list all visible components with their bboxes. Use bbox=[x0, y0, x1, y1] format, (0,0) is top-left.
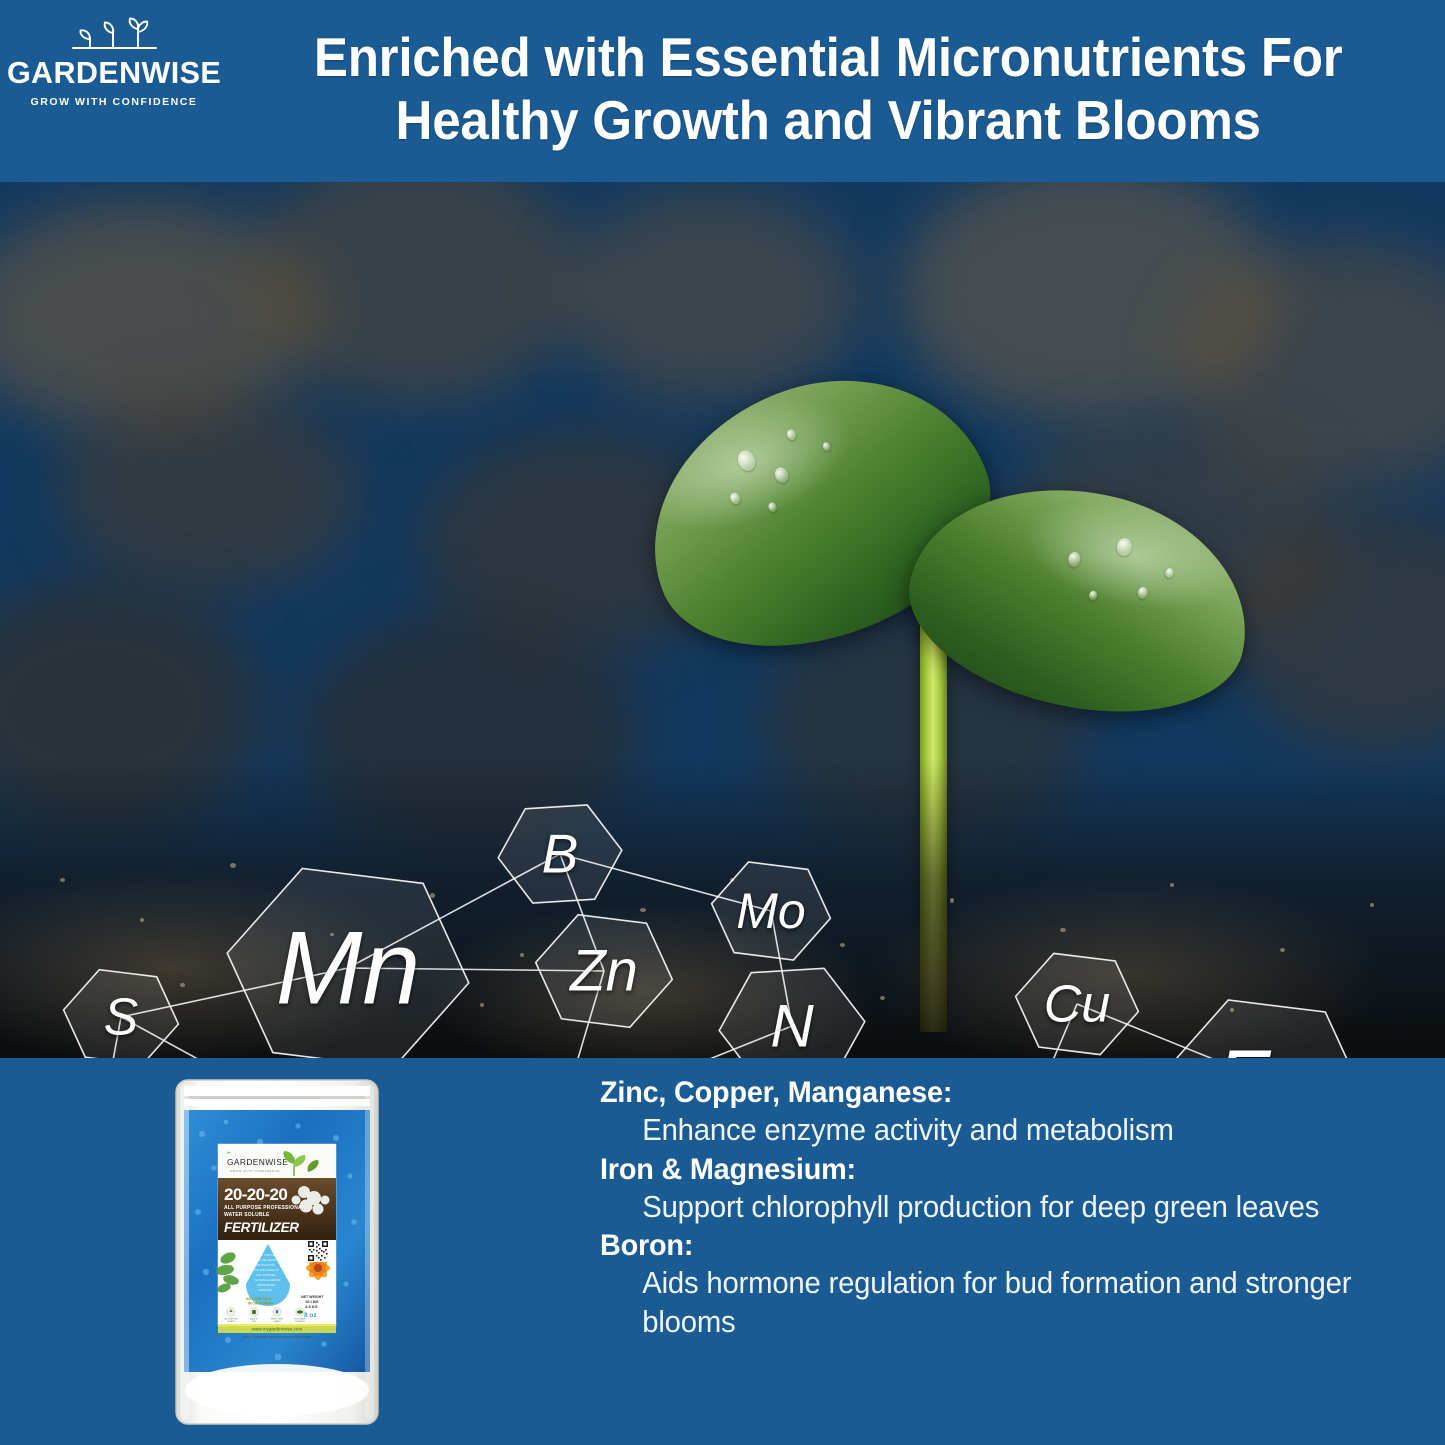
svg-text:NOT FOR SALE: NOT FOR SALE bbox=[246, 1297, 272, 1301]
element-symbol: B bbox=[542, 823, 579, 885]
svg-text:#1 ALL PURPOSE PROFESSIONAL FE: #1 ALL PURPOSE PROFESSIONAL FERTILIZER bbox=[243, 1335, 313, 1339]
product-package: GARDENWISE GROW WITH CONFIDENCE 20-20-20… bbox=[168, 1072, 386, 1432]
svg-text:20-20-20: 20-20-20 bbox=[224, 1185, 287, 1204]
micronutrient-network: CaSKMnBZnMgMoNCuPFe bbox=[0, 182, 1445, 1058]
element-node-s: S bbox=[64, 970, 179, 1058]
element-node-fe: Fe bbox=[1168, 1000, 1362, 1058]
svg-text:AND THE ROOTS: AND THE ROOTS bbox=[255, 1264, 275, 1267]
brand-logo: GARDENWISE GROW WITH CONFIDENCE bbox=[0, 0, 228, 182]
element-symbol: N bbox=[770, 992, 814, 1058]
element-node-b: B bbox=[498, 805, 622, 903]
element-node-cu: Cu bbox=[1016, 953, 1139, 1054]
svg-text:BOTH THE LEAVES: BOTH THE LEAVES bbox=[254, 1259, 276, 1262]
svg-text:PROFESSIONAL: PROFESSIONAL bbox=[257, 1284, 276, 1287]
svg-text:PLANTS: PLANTS bbox=[227, 1320, 235, 1323]
sprout-icon bbox=[60, 14, 168, 56]
svg-text:IN CALIFORNIA: IN CALIFORNIA bbox=[248, 1302, 274, 1306]
element-symbol: Mn bbox=[276, 910, 420, 1026]
svg-text:FEEDS THROUGH: FEEDS THROUGH bbox=[255, 1254, 276, 1257]
header-banner: GARDENWISE GROW WITH CONFIDENCE Enriched… bbox=[0, 0, 1445, 182]
hero-photo: CaSKMnBZnMgMoNCuPFe bbox=[0, 182, 1445, 1058]
element-symbol: Zn bbox=[568, 939, 638, 1004]
svg-text:LEAVES: LEAVES bbox=[273, 1320, 281, 1323]
svg-text:FORMULA: FORMULA bbox=[295, 1320, 305, 1323]
svg-text:GROW WITH CONFIDENCE: GROW WITH CONFIDENCE bbox=[230, 1169, 280, 1173]
brand-name: GARDENWISE bbox=[7, 58, 221, 89]
infographic-page: GARDENWISE GROW WITH CONFIDENCE Enriched… bbox=[0, 0, 1445, 1445]
qr-code bbox=[307, 1240, 329, 1262]
brand-tagline: GROW WITH CONFIDENCE bbox=[31, 96, 198, 108]
element-symbol: S bbox=[104, 989, 139, 1047]
page-title: Enriched with Essential Micronutrients F… bbox=[271, 26, 1403, 155]
element-symbol: Mo bbox=[736, 883, 805, 939]
benefit-heading: Zinc, Copper, Manganese: bbox=[600, 1074, 1387, 1111]
page-title-line2: Healthy Growth and Vibrant Blooms bbox=[271, 89, 1386, 152]
svg-text:WATER SOLUBLE: WATER SOLUBLE bbox=[224, 1212, 270, 1218]
benefits-list: Zinc, Copper, Manganese: Enhance enzyme … bbox=[600, 1074, 1420, 1342]
svg-text:www.mygardenwise.com: www.mygardenwise.com bbox=[252, 1326, 303, 1331]
element-nodes: CaSKMnBZnMgMoNCuPFe bbox=[26, 805, 1362, 1058]
svg-text:ALL PURPOSE PROFESSIONAL: ALL PURPOSE PROFESSIONAL bbox=[224, 1205, 305, 1211]
element-node-zn: Zn bbox=[536, 915, 673, 1028]
benefit-heading: Iron & Magnesium: bbox=[600, 1151, 1387, 1188]
benefit-body: Support chlorophyll production for deep … bbox=[600, 1188, 1387, 1226]
page-title-line1: Enriched with Essential Micronutrients F… bbox=[271, 26, 1386, 89]
element-node-mn: Mn bbox=[227, 869, 469, 1059]
svg-text:BLOOMS ALL SEASON: BLOOMS ALL SEASON bbox=[255, 1279, 281, 1282]
svg-text:FERTILIZER: FERTILIZER bbox=[224, 1220, 299, 1235]
benefit-item: Boron: Aids hormone regulation for bud f… bbox=[600, 1227, 1420, 1341]
element-symbol: Fe bbox=[1216, 1033, 1314, 1058]
element-node-n: N bbox=[719, 968, 865, 1058]
svg-text:FOR FAST GREEN-UP: FOR FAST GREEN-UP bbox=[254, 1269, 279, 1272]
benefit-item: Zinc, Copper, Manganese: Enhance enzyme … bbox=[600, 1074, 1420, 1150]
svg-text:8 oz: 8 oz bbox=[304, 1312, 317, 1319]
element-symbol: Cu bbox=[1044, 976, 1110, 1034]
svg-text:4.5 KG: 4.5 KG bbox=[305, 1304, 318, 1309]
svg-text:GARDENWISE: GARDENWISE bbox=[227, 1157, 288, 1167]
benefit-body: Aids hormone regulation for bud formatio… bbox=[600, 1264, 1387, 1341]
element-node-mo: Mo bbox=[712, 862, 831, 960]
svg-text:AND STRONGER: AND STRONGER bbox=[256, 1274, 276, 1277]
benefits-panel: GARDENWISE GROW WITH CONFIDENCE 20-20-20… bbox=[0, 1058, 1445, 1445]
benefit-item: Iron & Magnesium: Support chlorophyll pr… bbox=[600, 1151, 1420, 1227]
package-label: GARDENWISE GROW WITH CONFIDENCE 20-20-20… bbox=[215, 1144, 336, 1339]
fertilizer-pouch-image: GARDENWISE GROW WITH CONFIDENCE 20-20-20… bbox=[168, 1072, 386, 1432]
benefit-heading: Boron: bbox=[600, 1227, 1387, 1264]
benefit-body: Enhance enzyme activity and metabolism bbox=[600, 1111, 1387, 1149]
svg-text:GRADE NPK: GRADE NPK bbox=[258, 1289, 272, 1292]
